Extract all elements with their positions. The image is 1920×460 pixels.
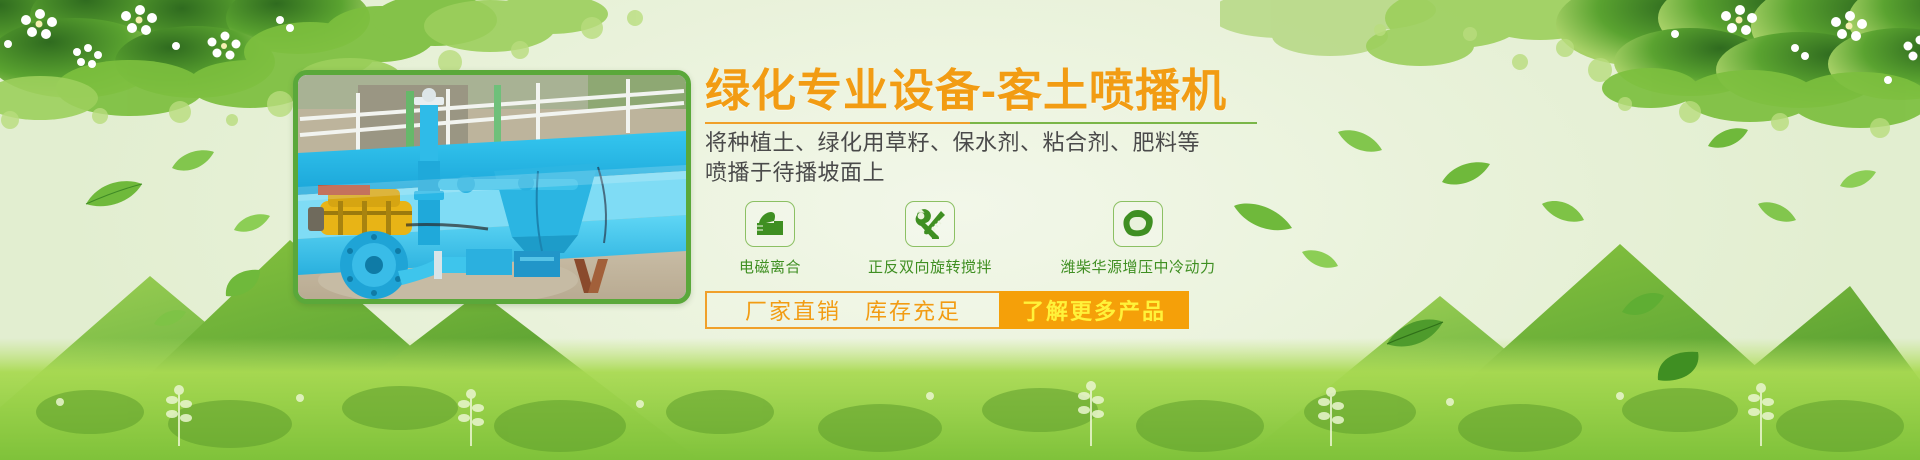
feature-item-engine[interactable]: 潍柴华源增压中冷动力 bbox=[1025, 201, 1251, 277]
cta-tagline: 厂家直销 库存充足 bbox=[705, 291, 999, 329]
product-photo-image bbox=[298, 75, 686, 299]
cta-row: 厂家直销 库存充足 了解更多产品 bbox=[705, 291, 1189, 329]
blossom-icon bbox=[73, 44, 102, 68]
blossom-icon bbox=[21, 9, 57, 39]
floating-leaf-icon bbox=[1838, 168, 1878, 190]
blossom-icon bbox=[208, 32, 241, 60]
engine-ring-icon bbox=[1113, 201, 1163, 247]
page-title: 绿化专业设备-客土喷播机 bbox=[705, 66, 1705, 116]
feature-item-clutch[interactable]: 电磁离合 bbox=[705, 201, 835, 277]
tools-icon bbox=[905, 201, 955, 247]
feature-list: 电磁离合 正反双向旋转搅拌 bbox=[705, 201, 1705, 277]
thumbs-up-icon bbox=[745, 201, 795, 247]
blossom-icon bbox=[121, 5, 157, 35]
feature-label: 正反双向旋转搅拌 bbox=[868, 256, 992, 277]
feature-label: 电磁离合 bbox=[739, 256, 801, 277]
subtitle-line-2: 喷播于待播坡面上 bbox=[705, 158, 1705, 187]
product-photo[interactable] bbox=[293, 70, 691, 304]
blossom-icon bbox=[1904, 36, 1920, 63]
subtitle-line-1: 将种植土、绿化用草籽、保水剂、粘合剂、肥料等 bbox=[705, 128, 1705, 157]
title-underline bbox=[705, 122, 1257, 124]
learn-more-button[interactable]: 了解更多产品 bbox=[999, 291, 1189, 329]
feature-label: 潍柴华源增压中冷动力 bbox=[1060, 256, 1215, 277]
floating-leaf-icon bbox=[170, 148, 216, 174]
banner-content: 绿化专业设备-客土喷播机 将种植土、绿化用草籽、保水剂、粘合剂、肥料等 喷播于待… bbox=[705, 66, 1705, 386]
blossom-icon bbox=[1831, 11, 1867, 41]
floating-leaf-icon bbox=[1706, 126, 1750, 150]
promo-banner: 绿化专业设备-客土喷播机 将种植土、绿化用草籽、保水剂、粘合剂、肥料等 喷播于待… bbox=[0, 0, 1920, 460]
feature-item-mixer[interactable]: 正反双向旋转搅拌 bbox=[835, 201, 1025, 277]
blossom-icon bbox=[1721, 5, 1757, 35]
